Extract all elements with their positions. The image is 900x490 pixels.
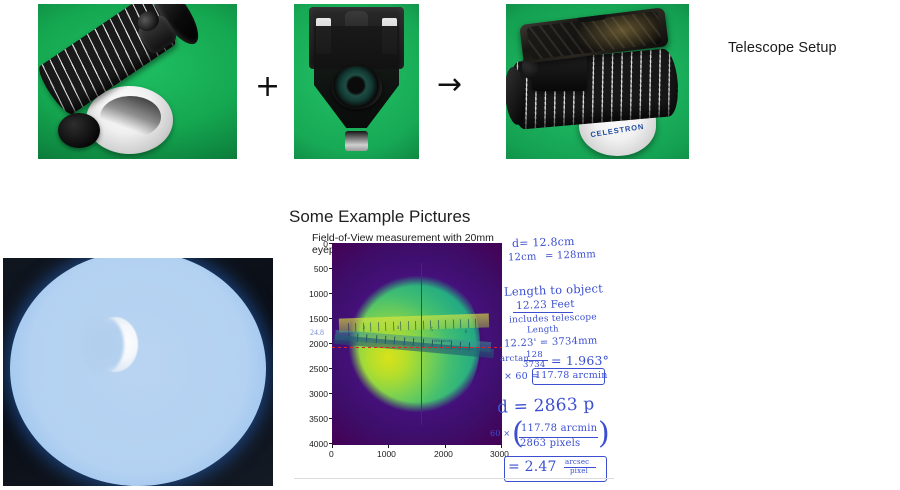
note-plate-scale-value: = 2.47 — [508, 459, 557, 475]
moon-through-eyepiece — [3, 258, 273, 486]
ytick-label: 1000 — [302, 289, 328, 299]
fov-measurement-figure: Field-of-View measurement with 20mm eyep… — [300, 230, 515, 462]
crosshair-vertical — [421, 263, 422, 425]
chart-annotation-24-8: 24.8 — [310, 328, 324, 337]
note-diameter-pixels: d = 2863 p — [497, 394, 595, 417]
note-arctan-result: = 1.963° — [551, 353, 609, 368]
note-scale-denominator: 2863 pixels — [520, 438, 580, 449]
ytick-label: 2500 — [302, 364, 328, 374]
crosshair-horizontal — [332, 347, 502, 348]
telescope-tube-photo — [38, 4, 237, 159]
note-arctan-numerator: 128 — [526, 350, 543, 360]
note-length-to-object: Length to object — [504, 281, 603, 298]
fov-image-plot: 3 4 5 6 Westcott — [332, 243, 502, 445]
note-plate-scale-unit-denominator: pixel — [570, 467, 588, 475]
xtick-label: 1000 — [377, 449, 396, 459]
ytick-label: 1500 — [302, 314, 328, 324]
note-scale-numerator: 117.78 arcmin — [521, 423, 597, 434]
adapter-lens-ring — [332, 66, 382, 109]
adapter-thumbscrew — [345, 131, 368, 151]
arrow-operator: → — [437, 70, 462, 100]
ytick-label: 3500 — [302, 414, 328, 424]
page-title: Telescope Setup — [728, 40, 837, 56]
note-scale-prefix: 60 × — [490, 429, 510, 438]
note-distance-feet: 12.23 Feet — [516, 298, 575, 312]
note-includes-telescope: includes telescope — [509, 312, 597, 325]
note-128mm: = 128mm — [545, 249, 596, 262]
crescent-moon — [92, 317, 138, 372]
note-close-paren: ) — [598, 419, 610, 449]
note-feet-to-mm: 12.23' = 3734mm — [504, 335, 598, 349]
note-12cm: 12cm — [508, 252, 537, 264]
ytick-label: 2000 — [302, 339, 328, 349]
ytick-label: 4000 — [302, 439, 328, 449]
eyepiece-field-circle — [10, 258, 267, 486]
section-heading-example-pictures: Some Example Pictures — [289, 207, 470, 227]
xtick-label: 2000 — [434, 449, 453, 459]
note-length-word: Length — [527, 324, 559, 335]
xtick-label: 0 — [329, 449, 334, 459]
ytick-label: 0 — [306, 239, 328, 249]
ruler-watermark: Westcott — [434, 338, 452, 343]
page-divider — [294, 478, 614, 479]
ytick-label: 500 — [306, 264, 328, 274]
ytick-label: 3000 — [302, 389, 328, 399]
assembled-rig-photo: CELESTRON — [506, 4, 689, 159]
plus-operator: + — [255, 72, 280, 102]
celestron-brand-label: CELESTRON — [585, 121, 650, 140]
phone-adapter-photo — [294, 4, 419, 159]
note-plate-scale-unit-numerator: arcsec — [565, 458, 589, 466]
note-diameter-cm: d= 12.8cm — [512, 235, 575, 250]
note-fov-arcmin: 117.78 arcmin — [535, 370, 608, 381]
slide-canvas: + → CELESTRON Tele — [0, 0, 900, 490]
